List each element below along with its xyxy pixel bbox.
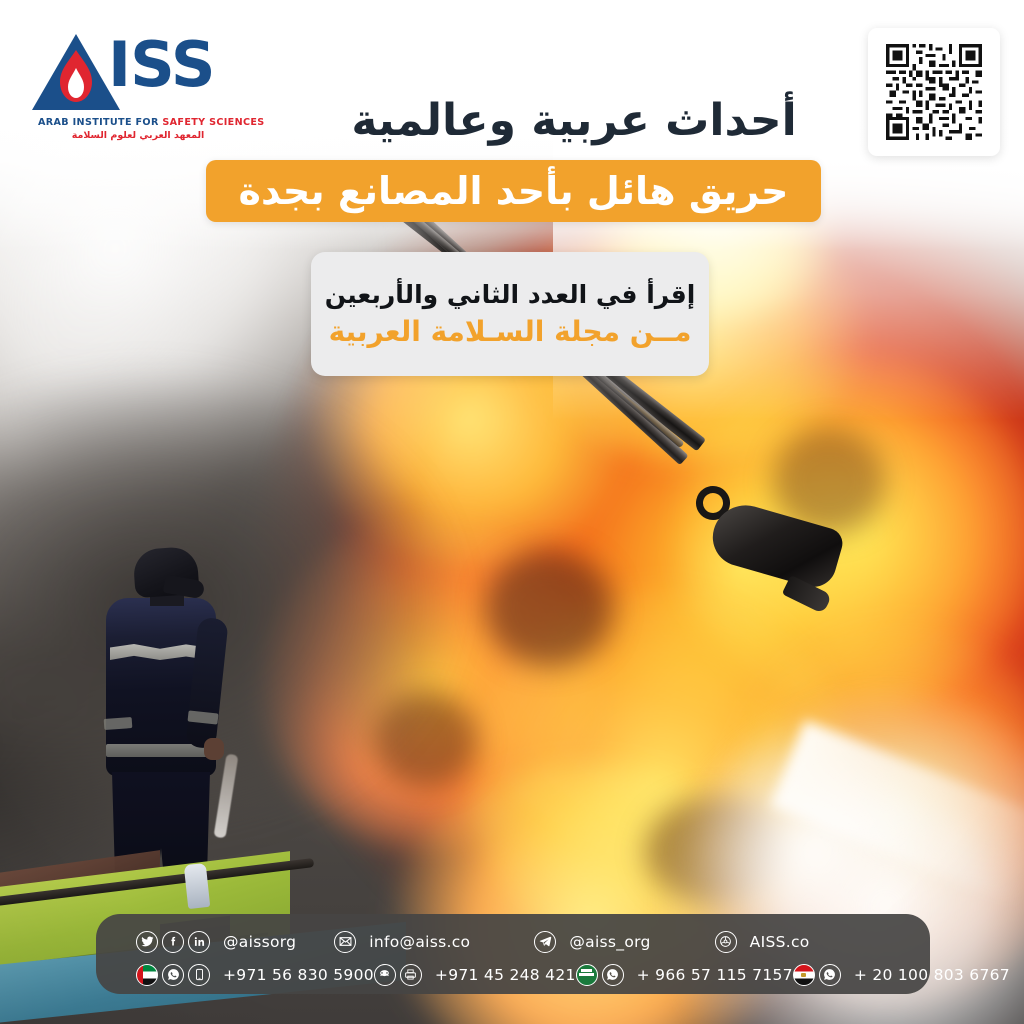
flag-saudi-icon [576, 964, 598, 986]
whatsapp-icon[interactable] [819, 964, 841, 986]
qr-code-icon[interactable] [886, 44, 982, 140]
issue-callout-line2: مــن مجلة السـلامة العربية [329, 315, 692, 348]
logo-wordmark: ISS [108, 34, 215, 96]
contact-item-social-handle[interactable]: @aissorg [136, 931, 296, 953]
email-icon[interactable] [334, 931, 356, 953]
contact-phone-uae-landline: +971 45 248 421 [435, 966, 576, 984]
contact-item-website[interactable]: AISS.co [715, 931, 810, 953]
facebook-icon[interactable] [162, 931, 184, 953]
logo-tagline-ar: المعهد العربي لعلوم السلامة [38, 130, 238, 141]
contact-website: AISS.co [750, 933, 810, 951]
fax-icon[interactable] [400, 964, 422, 986]
contact-row-phones: +971 56 830 5900 +971 45 248 421 + 966 5… [96, 958, 930, 991]
mobile-icon[interactable] [188, 964, 210, 986]
contact-row-social: @aissorg info@aiss.co @aiss_org AISS.co [96, 925, 930, 958]
issue-callout-line1: إقرأ في العدد الثاني والأربعين [325, 280, 696, 309]
issue-callout-card: إقرأ في العدد الثاني والأربعين مــن مجلة… [311, 252, 709, 376]
kicker-headline: أحداث عربية وعالمية [314, 96, 834, 145]
contact-item-uae-landline[interactable]: +971 45 248 421 [374, 964, 576, 986]
contact-phone-uae-mobile: +971 56 830 5900 [223, 966, 374, 984]
headline-banner-text: حريق هائل بأحد المصانع بجدة [239, 169, 789, 213]
flag-uae-icon [136, 964, 158, 986]
contact-item-email[interactable]: info@aiss.co [334, 931, 470, 953]
poster-canvas: ISS ARAB INSTITUTE FOR SAFETY SCIENCES ا… [0, 0, 1024, 1024]
contact-social-handle: @aissorg [223, 933, 296, 951]
whatsapp-icon[interactable] [602, 964, 624, 986]
linkedin-icon[interactable] [188, 931, 210, 953]
qr-code-card[interactable] [868, 28, 1000, 156]
telegram-icon[interactable] [534, 931, 556, 953]
contact-bar: @aissorg info@aiss.co @aiss_org AISS.co [96, 914, 930, 994]
telephone-icon[interactable] [374, 964, 396, 986]
contact-telegram: @aiss_org [569, 933, 650, 951]
contact-item-uae-mobile[interactable]: +971 56 830 5900 [136, 964, 374, 986]
twitter-icon[interactable] [136, 931, 158, 953]
logo-tagline-en-part2: SAFETY SCIENCES [162, 117, 264, 128]
contact-phone-saudi: + 966 57 115 7157 [637, 966, 793, 984]
logo-tagline-en-part1: ARAB INSTITUTE FOR [38, 117, 162, 128]
contact-phone-egypt: + 20 100 803 6767 [854, 966, 1010, 984]
aiss-logo[interactable]: ISS ARAB INSTITUTE FOR SAFETY SCIENCES ا… [30, 32, 230, 142]
headline-banner: حريق هائل بأحد المصانع بجدة [206, 160, 821, 222]
contact-item-telegram[interactable]: @aiss_org [534, 931, 650, 953]
whatsapp-icon[interactable] [162, 964, 184, 986]
contact-email: info@aiss.co [369, 933, 470, 951]
contact-item-egypt[interactable]: + 20 100 803 6767 [793, 964, 1010, 986]
contact-item-saudi[interactable]: + 966 57 115 7157 [576, 964, 793, 986]
website-icon[interactable] [715, 931, 737, 953]
logo-tagline-en: ARAB INSTITUTE FOR SAFETY SCIENCES [38, 117, 238, 128]
flag-egypt-icon [793, 964, 815, 986]
